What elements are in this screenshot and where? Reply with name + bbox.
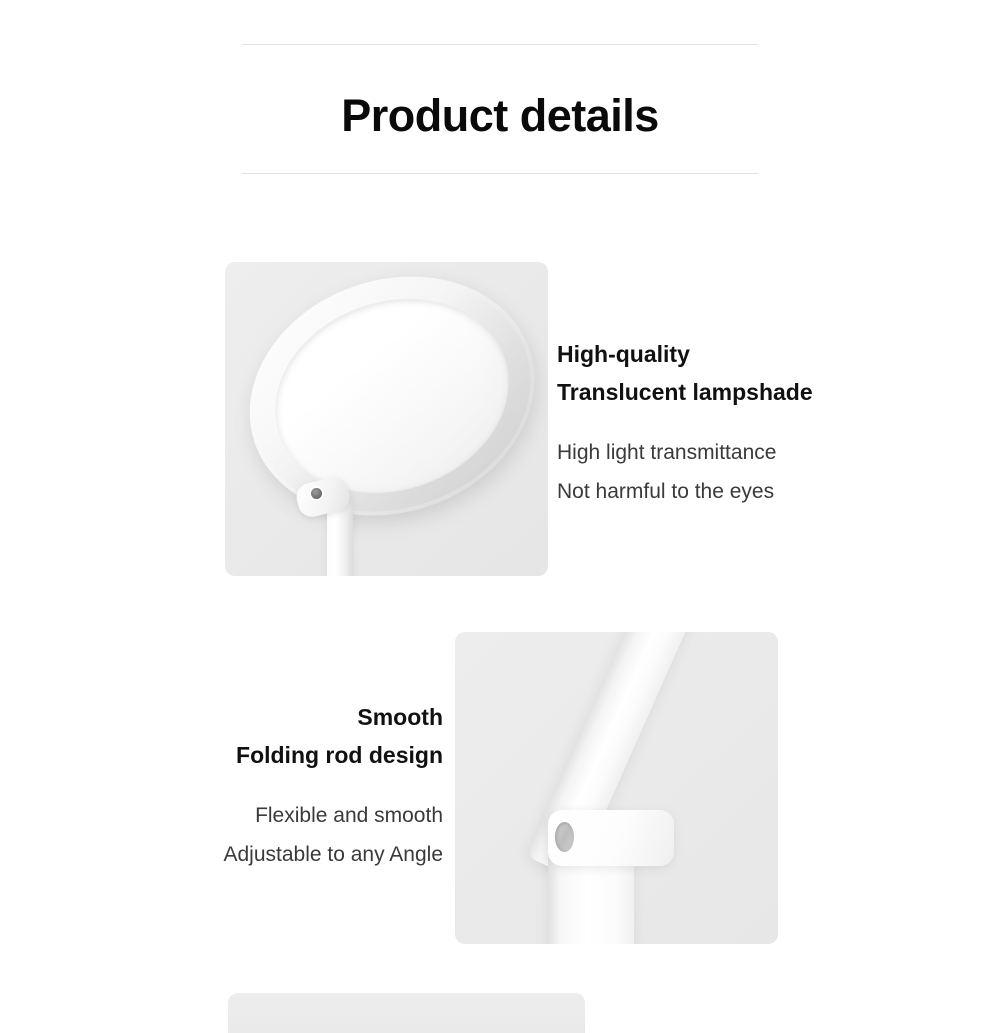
lampshade-copy: High-quality Translucent lampshade High … [557,335,917,511]
folding-rod-pivot-hole [555,822,574,852]
lampshade-subline-line2: Not harmful to the eyes [557,472,917,511]
folding-rod-photo [455,632,778,944]
folding-rod-headline-line1: Smooth [83,698,443,736]
third-photo-partial [228,993,585,1033]
folding-rod-headline-line2: Folding rod design [83,736,443,774]
copy-spacer [83,774,443,796]
lamp-ring-shape [225,262,548,553]
header-divider-bottom [242,173,758,174]
folding-rod-subline-line2: Adjustable to any Angle [83,835,443,874]
lampshade-headline-line1: High-quality [557,335,917,373]
folding-rod-subline-line1: Flexible and smooth [83,796,443,835]
lampshade-headline-line2: Translucent lampshade [557,373,917,411]
copy-spacer [557,411,917,433]
lampshade-subline-line1: High light transmittance [557,433,917,472]
folding-rod-copy: Smooth Folding rod design Flexible and s… [83,698,443,874]
page-title: Product details [0,88,1000,144]
lampshade-photo [225,262,548,576]
lamp-glow-panel [249,268,535,523]
lamp-pivot-screw [311,488,322,499]
page-header: Product details [0,0,1000,190]
header-divider-top [242,44,758,45]
